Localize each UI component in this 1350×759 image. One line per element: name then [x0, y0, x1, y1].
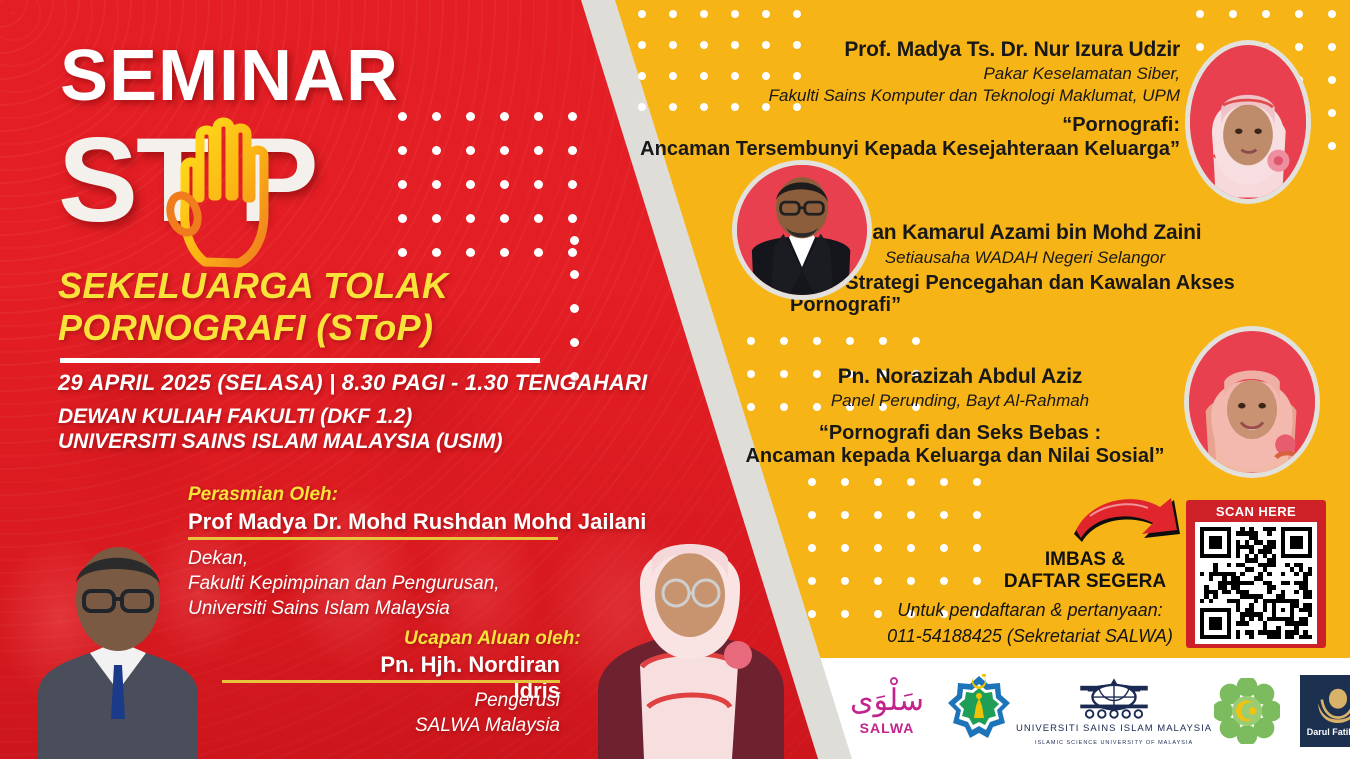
speaker-1-avatar	[1185, 40, 1311, 204]
tagline-line-2: PORNOGRAFI (SToP)	[58, 307, 528, 349]
speaker-1-role-line-2: Fakulti Sains Komputer dan Teknologi Mak…	[620, 86, 1180, 106]
usim-logo-caption: UNIVERSITI SAINS ISLAM MALAYSIA	[1016, 723, 1212, 734]
event-datetime: 29 APRIL 2025 (SELASA) | 8.30 PAGI - 1.3…	[58, 370, 647, 396]
floral-green-logo	[1214, 678, 1280, 744]
registration-qr-code[interactable]	[1200, 527, 1312, 639]
welcome-speech-label: Ucapan Aluan oleh:	[404, 628, 581, 650]
speaker-1-talk-line-2: Ancaman Tersembunyi Kepada Kesejahteraan…	[600, 138, 1180, 161]
contact-info-line-1: Untuk pendaftaran & pertanyaan:	[870, 597, 1190, 623]
headline-divider-rule	[60, 358, 540, 363]
stop-logo-block: ST P	[58, 120, 398, 260]
welcome-speech-rule	[222, 680, 560, 683]
welcome-speech-affiliation-line-2: SALWA Malaysia	[360, 713, 560, 738]
welcome-speech-affiliation: Pengerusi SALWA Malaysia	[360, 688, 560, 738]
speaker-2-role-line-1: Setiausaha WADAH Negeri Selangor	[810, 248, 1240, 268]
registration-cta-line-2: DAFTAR SEGERA	[990, 571, 1180, 593]
seminar-tagline: SEKELUARGA TOLAK PORNOGRAFI (SToP)	[58, 265, 528, 349]
qr-code-frame	[1195, 522, 1317, 644]
darul-fatiheen-logo-caption: Darul Fatiheen	[1307, 727, 1350, 737]
event-venue-university: UNIVERSITI SAINS ISLAM MALAYSIA (USIM)	[58, 430, 503, 454]
welcome-speech-affiliation-line-1: Pengerusi	[360, 688, 560, 713]
officiator-photo	[28, 479, 208, 759]
officiator-affiliation-line-3: Universiti Sains Islam Malaysia	[188, 596, 500, 621]
tagline-line-1: SEKELUARGA TOLAK	[58, 265, 528, 307]
salwa-logo: سَلْوَى SALWA	[850, 686, 924, 736]
officiator-name: Prof Madya Dr. Mohd Rushdan Mohd Jailani	[188, 509, 646, 535]
speaker-3-role-line-1: Panel Perunding, Bayt Al-Rahmah	[740, 391, 1180, 411]
yellow-bottom-rule	[818, 654, 1350, 658]
contact-info: Untuk pendaftaran & pertanyaan: 011-5418…	[870, 597, 1190, 649]
officiator-label: Perasmian Oleh:	[188, 484, 338, 506]
speaker-3-name: Pn. Norazizah Abdul Aziz	[740, 365, 1180, 389]
curved-arrow-icon	[1070, 494, 1185, 552]
salwa-logo-caption: SALWA	[860, 720, 915, 736]
event-venue-hall: DEWAN KULIAH FAKULTI (DKF 1.2)	[58, 405, 412, 429]
speaker-1-name: Prof. Madya Ts. Dr. Nur Izura Udzir	[660, 38, 1180, 62]
speaker-3-talk-line-1: “Pornografi dan Seks Bebas :	[740, 422, 1180, 445]
speaker-3-avatar	[1184, 326, 1320, 478]
usim-logo-subcaption: ISLAMIC SCIENCE UNIVERSITY OF MALAYSIA	[1035, 740, 1193, 746]
darul-fatiheen-logo: Darul Fatiheen	[1300, 675, 1350, 747]
jais-logo	[944, 674, 1014, 748]
qr-card[interactable]: SCAN HERE	[1186, 500, 1326, 648]
speaker-3-talk-line-2: Ancaman kepada Keluarga dan Nilai Sosial…	[730, 445, 1180, 468]
seminar-heading: SEMINAR	[60, 40, 399, 112]
speaker-1-talk-line-1: “Pornografi:	[620, 114, 1180, 137]
speaker-2-name: Tuan Kamarul Azami bin Mohd Zaini	[810, 221, 1240, 245]
welcome-speaker-photo	[580, 459, 800, 759]
open-hand-stop-icon	[153, 110, 303, 270]
salwa-arabic-mark: سَلْوَى	[850, 686, 924, 716]
usim-logo: UNIVERSITI SAINS ISLAM MALAYSIA ISLAMIC …	[1034, 676, 1194, 746]
registration-cta-line-1: IMBAS &	[990, 549, 1180, 571]
contact-info-line-2: 011-54188425 (Sekretariat SALWA)	[870, 623, 1190, 649]
scan-here-label: SCAN HERE	[1216, 504, 1296, 519]
speaker-2-talk-line-2: Pornografi”	[790, 294, 1220, 317]
officiator-affiliation-line-1: Dekan,	[188, 546, 500, 571]
officiator-affiliation: Dekan, Fakulti Kepimpinan dan Pengurusan…	[188, 546, 500, 621]
speaker-2-avatar	[732, 160, 872, 300]
partner-logo-bar: سَلْوَى SALWA	[850, 665, 1350, 757]
seminar-poster: SEMINAR ST P SEKELUARGA TOLAK PORNOGRAFI…	[0, 0, 1350, 759]
speaker-1-role-line-1: Pakar Keselamatan Siber,	[660, 64, 1180, 84]
registration-cta: IMBAS & DAFTAR SEGERA	[990, 549, 1180, 593]
officiator-rule	[188, 537, 558, 540]
officiator-affiliation-line-2: Fakulti Kepimpinan dan Pengurusan,	[188, 571, 500, 596]
speaker-2-talk-line-1: “Strategi Pencegahan dan Kawalan Akses	[820, 272, 1250, 295]
